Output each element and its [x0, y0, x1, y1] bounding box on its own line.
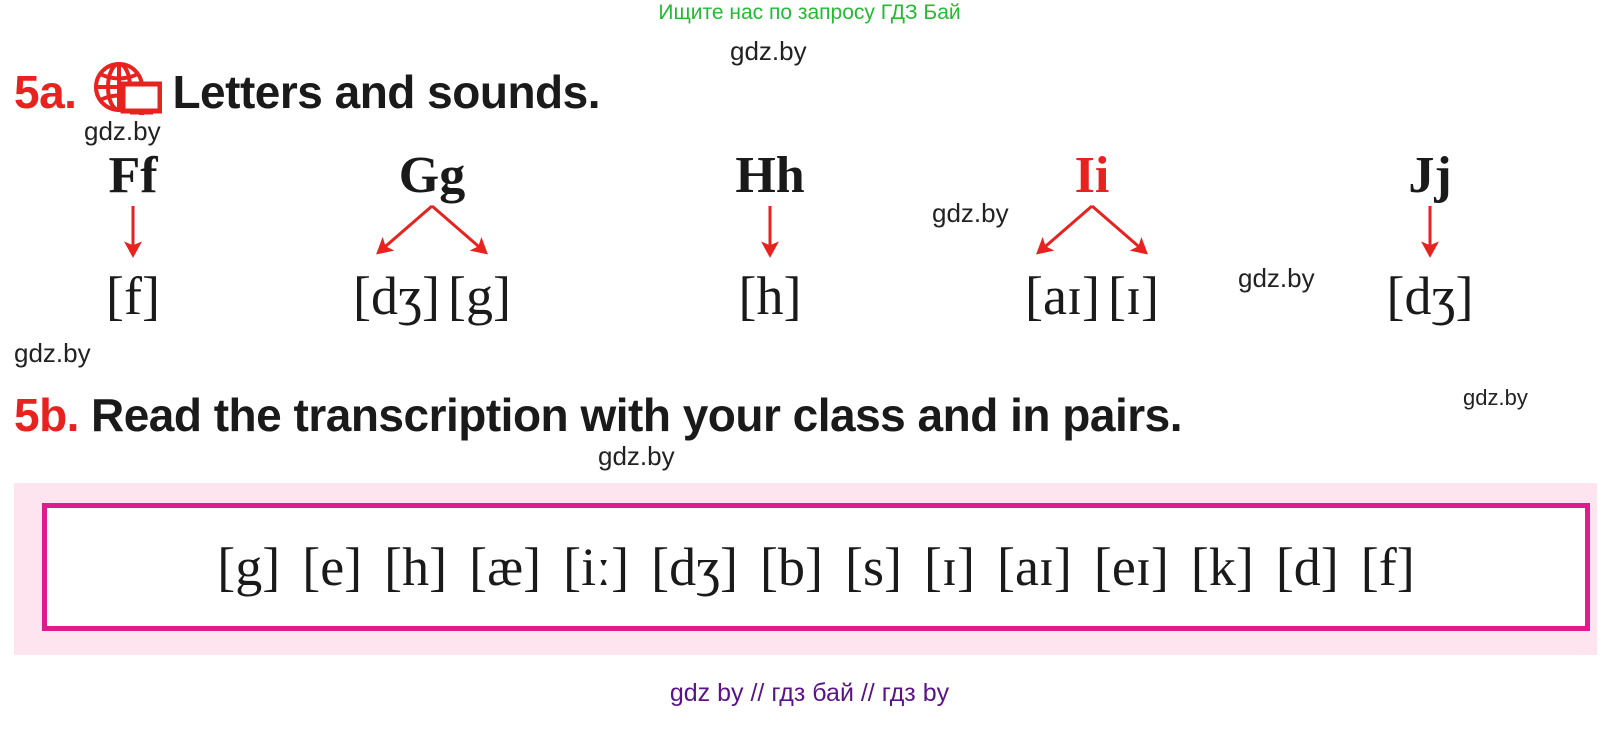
transcription-item[interactable]: [æ]: [458, 536, 552, 598]
watermark-gdz: gdz.by: [84, 118, 161, 144]
transcription-list: [g][e][h][æ][iː][dʒ][b][s][ɪ][aɪ][eɪ][k]…: [206, 536, 1425, 598]
footer-credit: gdz by // гдз бай // гдз by: [0, 678, 1619, 708]
letter-pair-label: Hh: [620, 148, 920, 204]
sounds-row: [dʒ]: [1280, 266, 1580, 326]
arrow-branch-icon: [942, 204, 1242, 266]
sound-transcription: [h]: [739, 266, 802, 326]
letter-group-ff: Ff[f]: [0, 148, 283, 326]
exercise-5b-title: Read the transcription with your class a…: [91, 390, 1182, 440]
letter-pair-label: Ff: [0, 148, 283, 204]
transcription-item[interactable]: [f]: [1350, 536, 1426, 598]
transcription-item[interactable]: [g]: [206, 536, 291, 598]
sound-transcription: [f]: [106, 266, 160, 326]
transcription-item[interactable]: [ɪ]: [913, 536, 986, 598]
globe-monitor-icon: [90, 62, 162, 120]
arrow-down-icon: [1280, 204, 1580, 266]
exercise-5b-number: 5b.: [14, 390, 79, 440]
watermark-gdz: gdz.by: [598, 443, 675, 469]
letter-pair-label: Jj: [1280, 148, 1580, 204]
transcription-item[interactable]: [s]: [834, 536, 913, 598]
letter-pair-label: Ii: [942, 148, 1242, 204]
transcription-item[interactable]: [d]: [1265, 536, 1350, 598]
letter-pair-label: Gg: [282, 148, 582, 204]
watermark-gdz: gdz.by: [730, 38, 807, 64]
transcription-item[interactable]: [dʒ]: [640, 536, 749, 598]
arrow-branch-icon: [282, 204, 582, 266]
sounds-row: [dʒ][g]: [282, 266, 582, 326]
transcription-box: [g][e][h][æ][iː][dʒ][b][s][ɪ][aɪ][eɪ][k]…: [42, 503, 1590, 631]
arrow-down-icon: [620, 204, 920, 266]
transcription-item[interactable]: [aɪ]: [986, 536, 1083, 598]
letter-group-hh: Hh[h]: [620, 148, 920, 326]
sounds-row: [h]: [620, 266, 920, 326]
transcription-item[interactable]: [k]: [1180, 536, 1265, 598]
sound-transcription: [g]: [448, 266, 511, 326]
promo-banner-text: Ищите нас по запросу ГДЗ Бай: [0, 0, 1619, 26]
sound-transcription: [aɪ]: [1025, 266, 1100, 326]
transcription-item[interactable]: [e]: [291, 536, 373, 598]
transcription-item[interactable]: [eɪ]: [1083, 536, 1180, 598]
sound-transcription: [dʒ]: [353, 266, 440, 326]
exercise-5a-title: Letters and sounds.: [172, 68, 600, 116]
letters-and-sounds-grid: Ff[f]Gg[dʒ][g]Hh[h]Ii[aɪ][ɪ]Jj[dʒ]: [0, 148, 1619, 338]
exercise-5a-heading: 5a. Letters and sounds.: [14, 62, 600, 116]
transcription-item[interactable]: [h]: [373, 536, 458, 598]
exercise-5a-number: 5a.: [14, 68, 76, 116]
letter-group-jj: Jj[dʒ]: [1280, 148, 1580, 326]
sound-transcription: [ɪ]: [1108, 266, 1159, 326]
exercise-5b-heading: 5b. Read the transcription with your cla…: [14, 390, 1182, 440]
sound-transcription: [dʒ]: [1387, 266, 1474, 326]
sounds-row: [f]: [0, 266, 283, 326]
transcription-item[interactable]: [b]: [749, 536, 834, 598]
letter-group-gg: Gg[dʒ][g]: [282, 148, 582, 326]
sounds-row: [aɪ][ɪ]: [942, 266, 1242, 326]
transcription-item[interactable]: [iː]: [552, 536, 640, 598]
arrow-down-icon: [0, 204, 283, 266]
letter-group-ii: Ii[aɪ][ɪ]: [942, 148, 1242, 326]
watermark-gdz: gdz.by: [1463, 385, 1528, 411]
watermark-gdz: gdz.by: [14, 340, 91, 366]
